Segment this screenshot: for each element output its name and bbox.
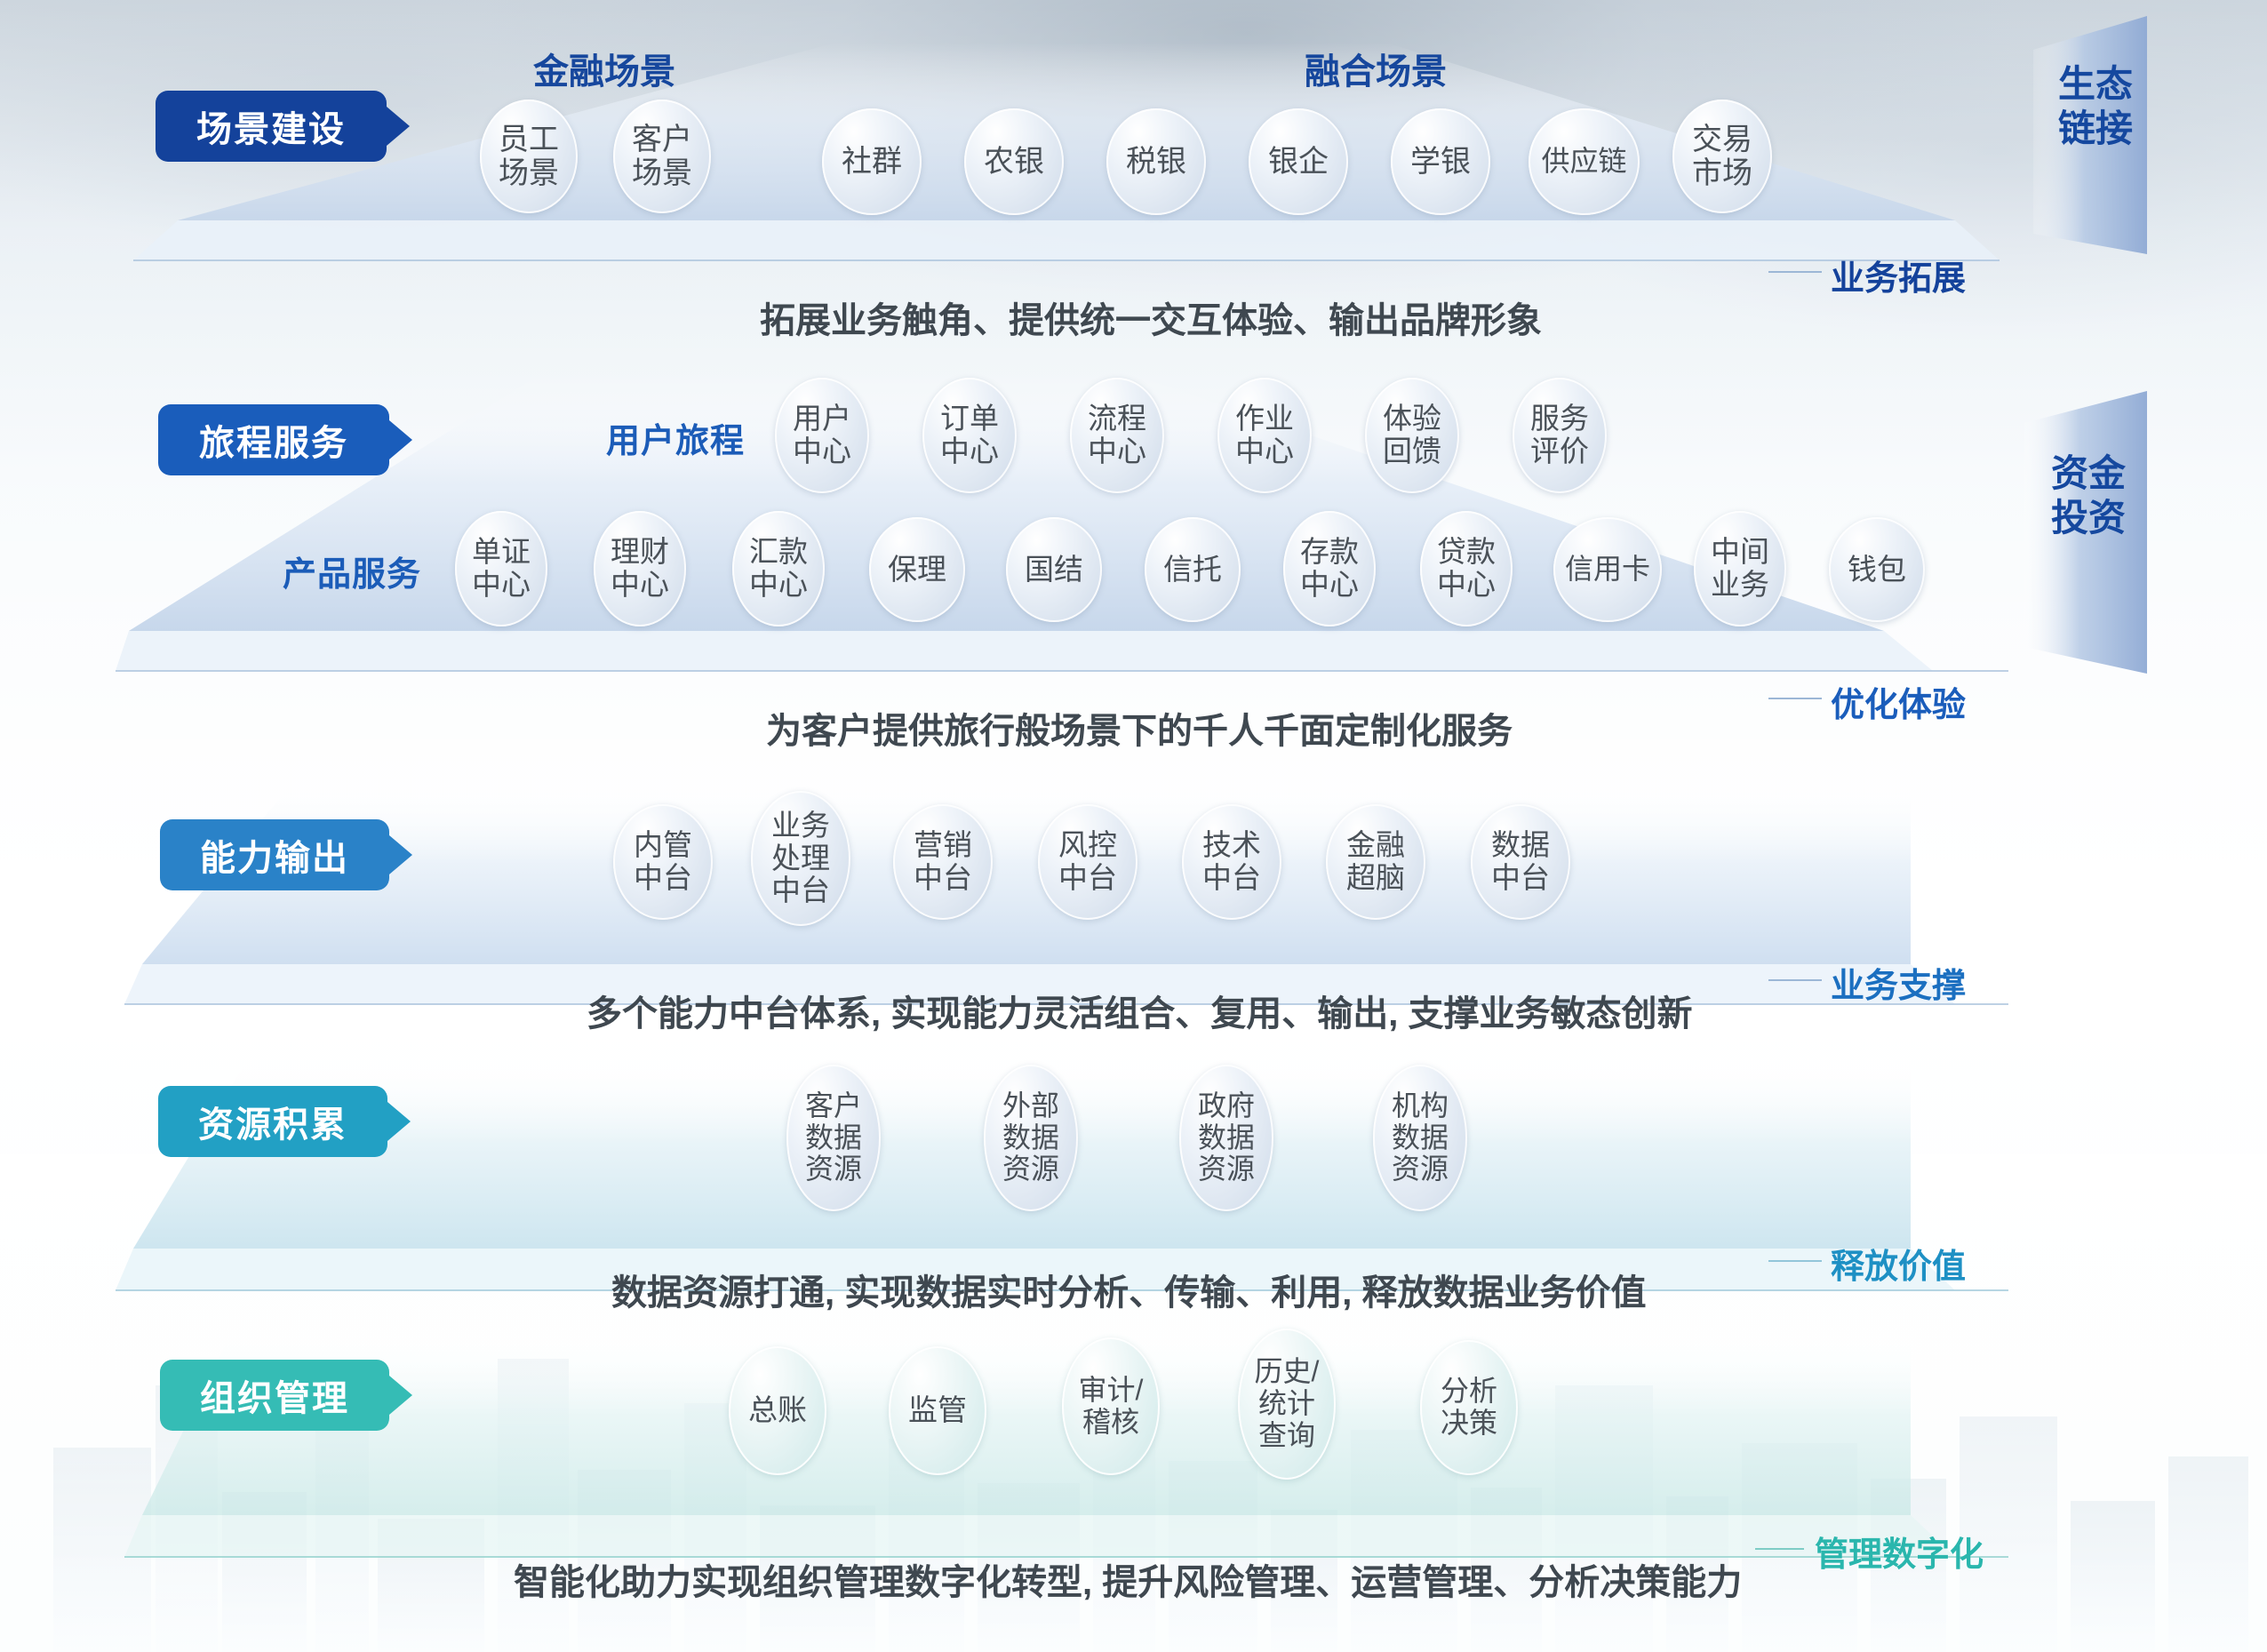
flag-line: 投资 <box>2008 496 2168 540</box>
node-bank-enterprise[interactable]: 银企 <box>1249 108 1348 215</box>
description-capability-output: 多个能力中台体系, 实现能力灵活组合、复用、输出, 支撑业务敏态创新 <box>587 985 1692 1036</box>
value-label-release-value: 释放价值 <box>1831 1239 1966 1288</box>
node-agriculture-bank[interactable]: 农银 <box>964 108 1064 215</box>
node-line: 学银 <box>1410 145 1471 179</box>
node-line: 内管 <box>634 829 692 862</box>
flag-line: 生态 <box>2016 62 2175 107</box>
value-rule-2 <box>1768 698 1822 699</box>
description-organization-management: 智能化助力实现组织管理数字化转型, 提升风险管理、运营管理、分析决策能力 <box>514 1553 1742 1605</box>
flag-capital-investment: 资金 投资 <box>2007 380 2229 736</box>
node-line: 处理 <box>771 842 830 875</box>
group-title-fusion-scene: 融合场景 <box>1305 43 1447 94</box>
node-line: 客户 <box>632 123 692 156</box>
node-line: 分析 <box>1441 1376 1497 1408</box>
node-financial-brain[interactable]: 金融 超脑 <box>1326 804 1425 920</box>
node-line: 用户 <box>793 403 851 435</box>
flag-label: 资金 投资 <box>2008 451 2168 539</box>
node-line: 信用卡 <box>1565 554 1650 586</box>
node-external-data-resource[interactable]: 外部 数据 资源 <box>984 1065 1078 1211</box>
node-line: 决策 <box>1441 1408 1497 1440</box>
node-line: 市场 <box>1692 156 1752 190</box>
group-title-financial-scene: 金融场景 <box>533 43 675 94</box>
node-line: 信托 <box>1163 554 1222 587</box>
flag-line: 链接 <box>2016 107 2175 151</box>
node-line: 政府 <box>1198 1090 1255 1122</box>
node-government-data-resource[interactable]: 政府 数据 资源 <box>1179 1065 1273 1211</box>
node-supply-chain[interactable]: 供应链 <box>1529 108 1640 215</box>
node-line: 统计 <box>1258 1388 1315 1420</box>
node-line: 员工 <box>499 123 559 156</box>
node-line: 数据 <box>1002 1122 1059 1154</box>
node-line: 中台 <box>1491 862 1550 895</box>
node-general-ledger[interactable]: 总账 <box>729 1346 826 1475</box>
node-line: 汇款 <box>749 536 808 569</box>
node-line: 审计/ <box>1079 1375 1144 1407</box>
node-line: 资源 <box>1392 1153 1449 1185</box>
node-line: 场景 <box>632 156 692 190</box>
node-service-evaluation[interactable]: 服务 评价 <box>1513 378 1607 493</box>
tier-tag-organization-management[interactable]: 组织管理 <box>160 1360 389 1431</box>
node-tax-bank[interactable]: 税银 <box>1106 108 1206 215</box>
flag-ecosystem-link: 生态 链接 <box>2007 16 2229 283</box>
tier-tag-arrow-icon <box>387 107 410 146</box>
node-line: 历史/ <box>1255 1356 1320 1388</box>
value-label-management-digitalization: 管理数字化 <box>1815 1527 1984 1576</box>
tier-tag-arrow-icon <box>387 1102 411 1141</box>
tier-tag-arrow-icon <box>389 420 412 459</box>
tier-tag-journey-service[interactable]: 旅程服务 <box>158 404 389 475</box>
node-line: 数据 <box>1198 1122 1255 1154</box>
node-wallet[interactable]: 钱包 <box>1829 517 1925 622</box>
node-line: 流程 <box>1088 403 1146 435</box>
node-line: 数据 <box>1491 829 1550 862</box>
flag-line: 资金 <box>2008 451 2168 496</box>
node-remittance-center[interactable]: 汇款 中心 <box>732 511 825 626</box>
description-journey-service: 为客户提供旅行般场景下的千人千面定制化服务 <box>766 702 1513 754</box>
node-risk-control-midend[interactable]: 风控 中台 <box>1038 804 1137 920</box>
tier-tag-label: 组织管理 <box>200 1369 349 1421</box>
flag-label: 生态 链接 <box>2016 62 2175 150</box>
node-line: 贷款 <box>1437 536 1496 569</box>
value-rule-3 <box>1768 979 1822 981</box>
node-line: 业务 <box>771 810 830 842</box>
node-customer-scene[interactable]: 客户 场景 <box>613 100 711 213</box>
node-line: 金融 <box>1346 829 1405 862</box>
node-line: 回馈 <box>1383 435 1441 468</box>
node-line: 中心 <box>1088 435 1146 468</box>
node-line: 社群 <box>842 145 902 179</box>
node-analysis-decision[interactable]: 分析 决策 <box>1420 1340 1518 1475</box>
node-line: 评价 <box>1530 435 1589 468</box>
node-line: 单证 <box>472 536 531 569</box>
node-line: 作业 <box>1235 403 1294 435</box>
node-line: 机构 <box>1392 1090 1449 1122</box>
node-user-center[interactable]: 用户 中心 <box>775 378 869 493</box>
node-line: 数据 <box>805 1122 862 1154</box>
value-rule-1 <box>1768 271 1822 273</box>
tier-tag-arrow-icon <box>389 1376 412 1415</box>
node-line: 中心 <box>793 435 851 468</box>
node-line: 中台 <box>914 862 972 895</box>
node-line: 中心 <box>1300 569 1359 602</box>
value-label-optimize-experience: 优化体验 <box>1831 677 1966 726</box>
node-line: 体验 <box>1383 403 1441 435</box>
node-document-center[interactable]: 单证 中心 <box>455 511 547 626</box>
node-institution-data-resource[interactable]: 机构 数据 资源 <box>1373 1065 1467 1211</box>
band-organization-management <box>124 1333 2008 1564</box>
node-line: 中心 <box>1235 435 1294 468</box>
node-line: 存款 <box>1300 536 1359 569</box>
node-line: 数据 <box>1392 1122 1449 1154</box>
node-business-process-midend[interactable]: 业务 处理 中台 <box>751 791 850 926</box>
description-scene-building: 拓展业务触角、提供统一交互体验、输出品牌形象 <box>760 291 1542 343</box>
node-operation-center[interactable]: 作业 中心 <box>1217 378 1312 493</box>
node-line: 税银 <box>1126 145 1186 179</box>
node-supervision[interactable]: 监管 <box>889 1346 986 1475</box>
node-data-midend[interactable]: 数据 中台 <box>1471 804 1570 920</box>
node-line: 国结 <box>1025 554 1083 587</box>
node-line: 客户 <box>805 1090 862 1122</box>
node-audit-inspection[interactable]: 审计/ 稽核 <box>1062 1337 1160 1475</box>
value-label-business-support: 业务支撑 <box>1831 958 1966 1007</box>
node-line: 供应链 <box>1541 146 1626 178</box>
tier-tag-resource-accumulation[interactable]: 资源积累 <box>158 1086 387 1157</box>
node-line: 钱包 <box>1848 554 1906 587</box>
node-line: 稽核 <box>1082 1407 1139 1439</box>
node-line: 服务 <box>1530 403 1589 435</box>
node-line: 中台 <box>634 862 692 895</box>
node-line: 中台 <box>771 874 830 907</box>
value-label-business-expansion: 业务拓展 <box>1831 251 1966 299</box>
node-line: 业务 <box>1711 569 1769 602</box>
node-line: 理财 <box>611 536 669 569</box>
node-line: 风控 <box>1058 829 1117 862</box>
description-resource-accumulation: 数据资源打通, 实现数据实时分析、传输、利用, 释放数据业务价值 <box>611 1264 1646 1315</box>
node-line: 中心 <box>749 569 808 602</box>
node-loan-center[interactable]: 贷款 中心 <box>1420 511 1513 626</box>
node-community[interactable]: 社群 <box>822 108 922 215</box>
row-title-product-service: 产品服务 <box>283 547 421 595</box>
node-school-bank[interactable]: 学银 <box>1391 108 1490 215</box>
node-factoring[interactable]: 保理 <box>869 517 965 622</box>
tier-tag-capability-output[interactable]: 能力输出 <box>160 819 389 890</box>
node-employee-scene[interactable]: 员工 场景 <box>480 100 578 213</box>
node-line: 中台 <box>1058 862 1117 895</box>
node-line: 监管 <box>908 1394 967 1427</box>
node-intermediary-business[interactable]: 中间 业务 <box>1694 511 1786 626</box>
node-line: 超脑 <box>1346 862 1405 895</box>
tier-tag-label: 场景建设 <box>196 100 346 152</box>
node-trading-market[interactable]: 交易 市场 <box>1672 100 1772 213</box>
tier-tag-arrow-icon <box>389 835 412 874</box>
node-history-statistics-query[interactable]: 历史/ 统计 查询 <box>1238 1329 1336 1480</box>
node-marketing-midend[interactable]: 营销 中台 <box>893 804 993 920</box>
node-trust[interactable]: 信托 <box>1145 517 1241 622</box>
node-line: 外部 <box>1002 1090 1059 1122</box>
node-line: 技术 <box>1202 829 1261 862</box>
node-line: 中台 <box>1202 862 1261 895</box>
node-deposit-center[interactable]: 存款 中心 <box>1283 511 1376 626</box>
node-experience-feedback[interactable]: 体验 回馈 <box>1365 378 1459 493</box>
node-wealth-center[interactable]: 理财 中心 <box>594 511 686 626</box>
node-line: 中心 <box>472 569 531 602</box>
node-line: 交易 <box>1692 123 1752 156</box>
node-credit-card[interactable]: 信用卡 <box>1553 517 1662 622</box>
node-international-settlement[interactable]: 国结 <box>1006 517 1102 622</box>
value-rule-4 <box>1768 1260 1822 1262</box>
node-line: 中间 <box>1711 536 1769 569</box>
row-title-user-journey: 用户旅程 <box>606 413 745 462</box>
node-line: 中心 <box>611 569 669 602</box>
node-internal-mgmt-midend[interactable]: 内管 中台 <box>613 804 713 920</box>
node-line: 资源 <box>1198 1153 1255 1185</box>
node-line: 订单 <box>940 403 999 435</box>
node-line: 农银 <box>984 145 1044 179</box>
node-line: 场景 <box>499 156 559 190</box>
node-process-center[interactable]: 流程 中心 <box>1070 378 1164 493</box>
node-line: 中心 <box>1437 569 1496 602</box>
node-line: 总账 <box>748 1394 807 1427</box>
tier-tag-label: 旅程服务 <box>199 414 348 466</box>
node-line: 保理 <box>888 554 946 587</box>
node-line: 银企 <box>1268 145 1329 179</box>
node-customer-data-resource[interactable]: 客户 数据 资源 <box>786 1065 881 1211</box>
node-technology-midend[interactable]: 技术 中台 <box>1182 804 1281 920</box>
architecture-diagram: 场景建设 金融场景 融合场景 员工 场景 客户 场景 社群 农银 税银 银企 学… <box>0 0 2267 1652</box>
node-line: 中心 <box>940 435 999 468</box>
node-line: 资源 <box>1002 1153 1059 1185</box>
node-line: 营销 <box>914 829 972 862</box>
tier-tag-label: 能力输出 <box>200 829 349 881</box>
node-line: 查询 <box>1258 1420 1315 1452</box>
tier-tag-label: 资源积累 <box>198 1096 347 1147</box>
value-rule-5 <box>1755 1548 1804 1550</box>
node-order-center[interactable]: 订单 中心 <box>922 378 1017 493</box>
node-line: 资源 <box>805 1153 862 1185</box>
tier-tag-scene-building[interactable]: 场景建设 <box>156 91 387 162</box>
